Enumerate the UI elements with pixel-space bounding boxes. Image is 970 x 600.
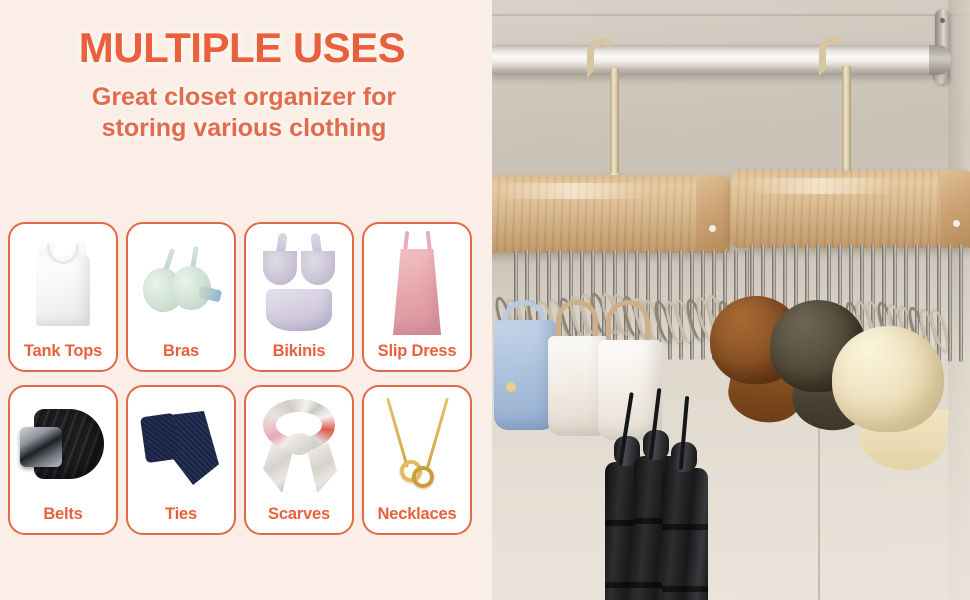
bracket-screw [940, 18, 945, 23]
use-card-label: Bikinis [246, 342, 352, 361]
blue-handbag [494, 320, 556, 430]
use-card-belts[interactable]: Belts [8, 385, 118, 535]
metal-rod [959, 244, 963, 362]
use-card-tank-tops[interactable]: Tank Tops [8, 222, 118, 372]
belt-icon [13, 392, 113, 500]
use-card-scarves[interactable]: Scarves [244, 385, 354, 535]
use-card-bikinis[interactable]: Bikinis [244, 222, 354, 372]
use-case-grid: Tank Tops Bras [8, 222, 492, 548]
left-info-panel: MULTIPLE USES Great closet organizer for… [0, 0, 492, 600]
use-card-label: Ties [128, 505, 234, 524]
cream-cap [832, 326, 944, 432]
handbag-handle [556, 300, 598, 340]
subtitle-line-1: Great closet organizer for [0, 82, 492, 114]
necklace-icon [367, 392, 467, 500]
scarf-icon [249, 392, 349, 500]
page-subtitle: Great closet organizer for storing vario… [0, 82, 492, 145]
use-card-necklaces[interactable]: Necklaces [362, 385, 472, 535]
wooden-organizer-bar [492, 175, 730, 253]
use-case-row-2: Belts Ties Scarves [8, 385, 492, 535]
headline-block: MULTIPLE USES Great closet organizer for… [0, 26, 492, 145]
product-photo [492, 0, 970, 600]
use-card-label: Necklaces [364, 505, 470, 524]
product-feature-image: MULTIPLE USES Great closet organizer for… [0, 0, 970, 600]
page-title: MULTIPLE USES [0, 26, 492, 71]
handbag-handle [606, 300, 650, 344]
handbag-charm [506, 382, 516, 392]
slip-dress-icon [367, 229, 467, 337]
closet-rod [492, 45, 942, 75]
use-card-bras[interactable]: Bras [126, 222, 236, 372]
black-umbrella [662, 468, 708, 600]
use-card-label: Scarves [246, 505, 352, 524]
wall-seam [492, 14, 970, 16]
use-card-label: Belts [10, 505, 116, 524]
use-card-label: Tank Tops [10, 342, 116, 361]
gold-hanger-hook [587, 38, 603, 193]
closet-rod-end-cap [929, 45, 951, 75]
subtitle-line-2: storing various clothing [0, 113, 492, 145]
bikini-icon [249, 229, 349, 337]
bra-icon [131, 229, 231, 337]
tie-icon [131, 392, 231, 500]
gold-hanger-hook [819, 36, 835, 191]
use-card-slip-dress[interactable]: Slip Dress [362, 222, 472, 372]
use-case-row-1: Tank Tops Bras [8, 222, 492, 372]
tank-top-icon [13, 229, 113, 337]
use-card-label: Slip Dress [364, 342, 470, 361]
use-card-label: Bras [128, 342, 234, 361]
wooden-organizer-bar [730, 170, 970, 248]
use-card-ties[interactable]: Ties [126, 385, 236, 535]
